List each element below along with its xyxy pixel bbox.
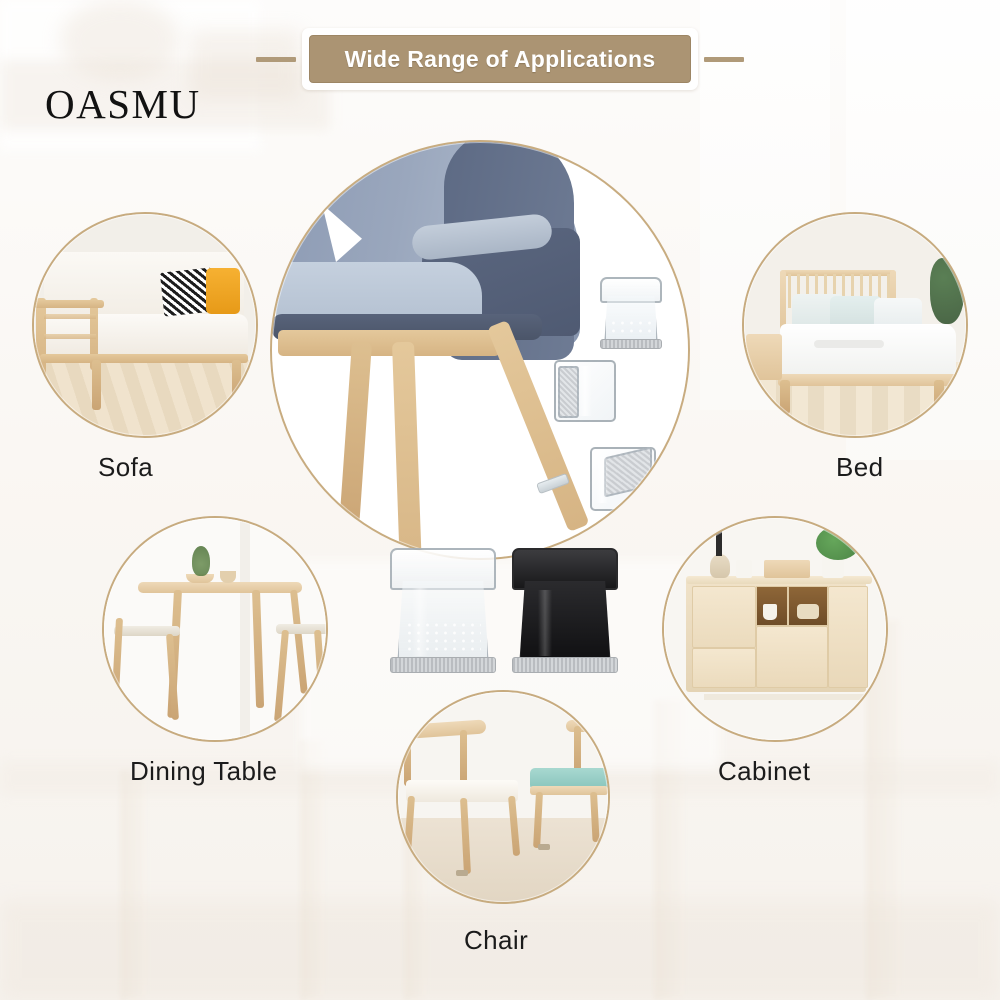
product-cap-circle-bottom — [590, 447, 656, 511]
installed-cap-1 — [344, 538, 376, 549]
cabinet-door-3 — [756, 626, 828, 688]
armchair-apron — [278, 330, 500, 356]
dining-tabletop — [138, 582, 302, 593]
banner-title: Wide Range of Applications — [345, 46, 656, 73]
circle-dining-table — [104, 518, 326, 740]
banner-dash-left — [256, 57, 296, 62]
infographic-canvas: Wide Range of Applications OASMU — [0, 0, 1000, 1000]
cabinet-basket — [797, 604, 819, 619]
chair-left-backpost — [460, 730, 467, 786]
product-cap-black — [512, 548, 618, 673]
chair-left-cap — [456, 870, 468, 876]
label-bed: Bed — [836, 452, 883, 483]
sofa-armrest — [34, 300, 104, 308]
circle-cabinet — [664, 518, 886, 740]
circle-sofa — [34, 214, 256, 436]
label-cabinet: Cabinet — [718, 756, 810, 787]
label-dining-table: Dining Table — [130, 756, 277, 787]
circle-bed — [744, 214, 966, 436]
cabinet-vase — [710, 554, 730, 578]
product-cap-circle-top — [600, 277, 662, 349]
cabinet-box — [764, 560, 810, 578]
armchair-leg-back-left — [338, 341, 372, 542]
brand-logo: OASMU — [45, 80, 201, 128]
cabinet-pendant-cord — [716, 524, 722, 556]
product-cap-clear — [390, 548, 496, 673]
label-sofa: Sofa — [98, 452, 153, 483]
cabinet-door-2 — [692, 648, 756, 688]
label-chair: Chair — [464, 925, 528, 956]
chair-right-cap — [538, 844, 550, 850]
chair-right-backrest — [566, 720, 608, 732]
cabinet-door-4 — [828, 586, 868, 688]
bed-duvet — [780, 324, 956, 378]
cabinet-door-1 — [692, 586, 756, 648]
chair-floor — [398, 818, 608, 902]
banner-dash-right — [704, 57, 744, 62]
cabinet-cup-top — [736, 560, 752, 578]
sofa-leg — [92, 360, 101, 410]
product-cap-circle-middle — [554, 360, 616, 422]
bed-leg — [780, 380, 790, 414]
dining-plant — [192, 546, 210, 576]
sofa-front-rail — [40, 354, 248, 363]
circle-chair — [398, 692, 608, 902]
hero-circle-chair-with-caps — [272, 142, 688, 558]
dining-cup — [220, 571, 236, 583]
banner: Wide Range of Applications — [302, 28, 698, 90]
bed-frame — [778, 374, 958, 386]
cabinet-cup — [763, 604, 777, 620]
armchair-leg-front-left — [392, 342, 423, 558]
hero-scene — [272, 142, 688, 558]
sofa-yellow-pillow — [206, 268, 240, 314]
cabinet-plant — [816, 526, 860, 560]
bed-nightstand — [746, 334, 782, 380]
sofa-floor — [34, 360, 256, 436]
